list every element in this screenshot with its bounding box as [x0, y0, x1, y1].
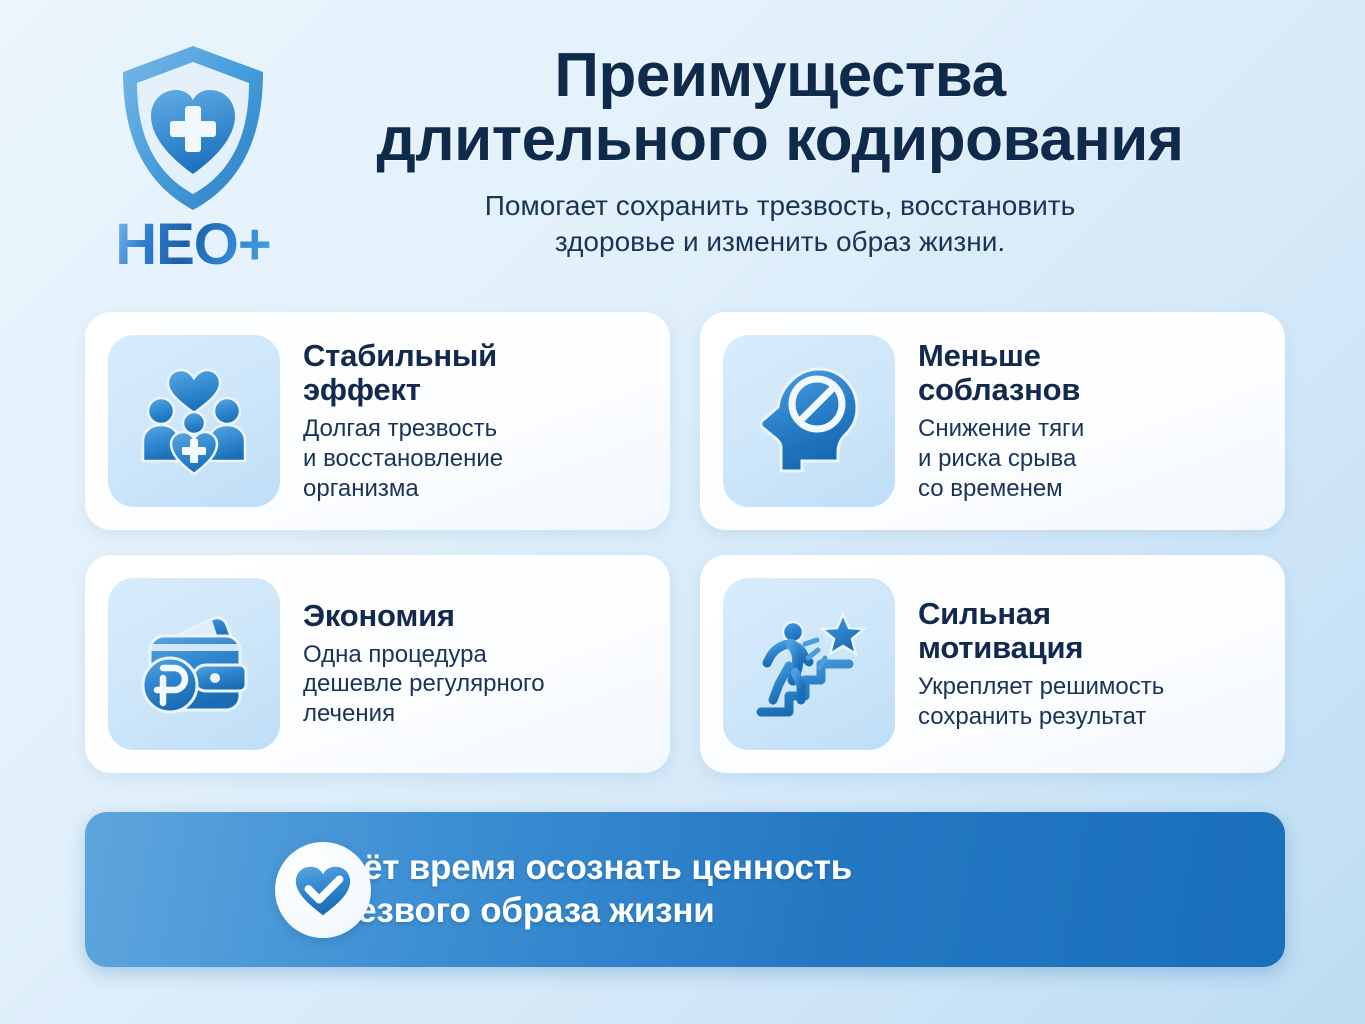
banner-line1: Даёт время осознать ценность — [319, 847, 852, 890]
icon-tile — [108, 578, 280, 750]
card-desc-line1: Долгая трезвость — [303, 414, 503, 444]
family-heart-icon — [130, 357, 258, 485]
card-title-line1: Стабильный — [303, 339, 503, 374]
card-desc-line3: организма — [303, 474, 503, 504]
card-desc-line1: Одна процедура — [303, 640, 545, 670]
card-title-line1: Меньше — [918, 339, 1084, 374]
page-title-line1: Преимущества — [280, 44, 1280, 108]
head-prohibition-icon — [745, 357, 873, 485]
card-desc-line3: лечения — [303, 699, 545, 729]
card-desc-line2: и восстановление — [303, 444, 503, 474]
badge-circle — [275, 842, 371, 938]
card-description: Укрепляет решимость сохранить результат — [918, 672, 1164, 732]
card-text: Сильная мотивация Укрепляет решимость со… — [895, 597, 1168, 732]
page-subtitle-line2: здоровье и изменить образ жизни. — [280, 224, 1280, 260]
card-title: Стабильный эффект — [303, 339, 503, 408]
card-desc-line1: Снижение тяги — [918, 414, 1084, 444]
card-title: Меньше соблазнов — [918, 339, 1084, 408]
card-desc-line3: со временем — [918, 474, 1084, 504]
heart-check-icon — [292, 859, 354, 921]
card-text: Меньше соблазнов Снижение тяги и риска с… — [895, 339, 1088, 504]
card-desc-line2: сохранить результат — [918, 702, 1164, 732]
card-text: Стабильный эффект Долгая трезвость и вос… — [280, 339, 507, 504]
card-title-line2: мотивация — [918, 631, 1164, 666]
wallet-ruble-icon — [130, 600, 258, 728]
card-desc-line2: дешевле регулярного — [303, 669, 545, 699]
summary-banner[interactable]: Даёт время осознать ценность трезвого об… — [85, 812, 1285, 967]
benefit-card-stable-effect[interactable]: Стабильный эффект Долгая трезвость и вос… — [85, 312, 670, 530]
card-description: Снижение тяги и риска срыва со временем — [918, 414, 1084, 503]
card-text: Экономия Одна процедура дешевле регулярн… — [280, 599, 549, 729]
card-title: Экономия — [303, 599, 545, 634]
card-description: Одна процедура дешевле регулярного лечен… — [303, 640, 545, 729]
banner-line2: трезвого образа жизни — [319, 890, 852, 933]
card-title-line2: соблазнов — [918, 373, 1084, 408]
card-title-line2: эффект — [303, 373, 503, 408]
person-stairs-star-icon — [745, 600, 873, 728]
benefit-card-savings[interactable]: Экономия Одна процедура дешевле регулярн… — [85, 555, 670, 773]
card-title: Сильная мотивация — [918, 597, 1164, 666]
title-block: Преимущества длительного кодирования Пом… — [280, 44, 1280, 259]
icon-tile — [723, 578, 895, 750]
page-title-line2: длительного кодирования — [280, 108, 1280, 172]
benefit-card-motivation[interactable]: Сильная мотивация Укрепляет решимость со… — [700, 555, 1285, 773]
card-title-line1: Сильная — [918, 597, 1164, 632]
card-desc-line1: Укрепляет решимость — [918, 672, 1164, 702]
benefit-card-less-temptation[interactable]: Меньше соблазнов Снижение тяги и риска с… — [700, 312, 1285, 530]
card-description: Долгая трезвость и восстановление органи… — [303, 414, 503, 503]
card-title-line1: Экономия — [303, 599, 545, 634]
brand-logo: НЕО+ — [78, 42, 308, 274]
shield-heart-cross-icon — [117, 42, 269, 214]
banner-text: Даёт время осознать ценность трезвого об… — [319, 847, 852, 932]
card-desc-line2: и риска срыва — [918, 444, 1084, 474]
icon-tile — [108, 335, 280, 507]
header: НЕО+ Преимущества длительного кодировани… — [0, 0, 1365, 300]
page-subtitle-line1: Помогает сохранить трезвость, восстанови… — [280, 188, 1280, 224]
brand-wordmark: НЕО+ — [115, 216, 271, 274]
infographic-page: НЕО+ Преимущества длительного кодировани… — [0, 0, 1365, 1024]
benefits-grid: Стабильный эффект Долгая трезвость и вос… — [85, 312, 1285, 773]
icon-tile — [723, 335, 895, 507]
page-subtitle: Помогает сохранить трезвость, восстанови… — [280, 188, 1280, 260]
